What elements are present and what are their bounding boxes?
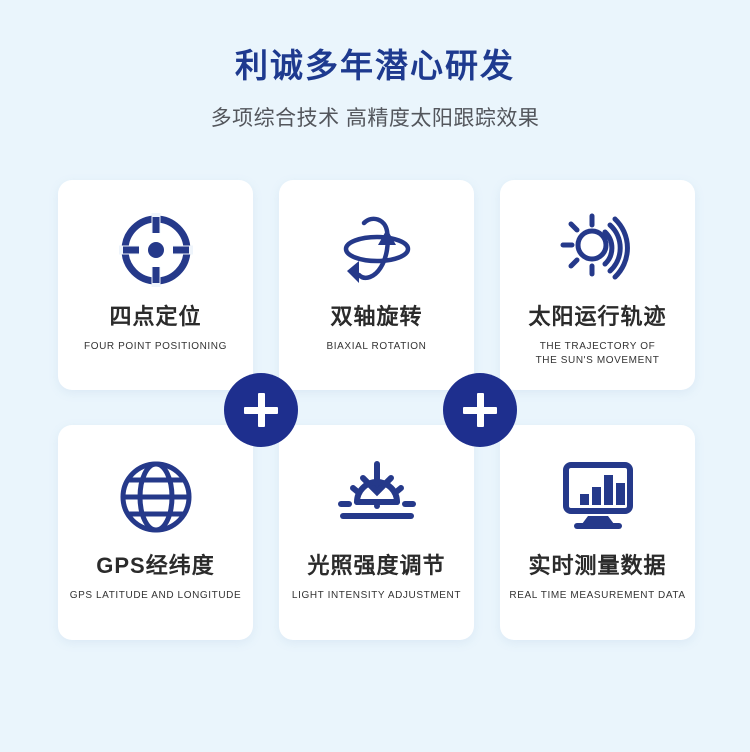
card-subtitle-line-1: THE TRAJECTORY OF xyxy=(540,341,656,352)
sun-trajectory-icon xyxy=(557,202,639,298)
card-title: 太阳运行轨迹 xyxy=(528,304,666,330)
feature-card-four-point-positioning[interactable]: 四点定位 FOUR POINT POSITIONING xyxy=(58,180,253,390)
card-title: 双轴旋转 xyxy=(330,304,422,330)
plus-icon-vertical-bar xyxy=(258,393,265,427)
feature-card-sun-trajectory[interactable]: 太阳运行轨迹 THE TRAJECTORY OF THE SUN'S MOVEM… xyxy=(500,180,695,390)
monitor-bar-chart-icon xyxy=(558,447,638,547)
feature-card-grid: 四点定位 FOUR POINT POSITIONING 双轴旋转 BIAXIAL… xyxy=(58,180,695,640)
globe-icon xyxy=(118,447,194,547)
card-subtitle: GPS LATITUDE AND LONGITUDE xyxy=(70,589,242,603)
sunrise-arrow-icon xyxy=(337,447,417,547)
card-subtitle: BIAXIAL ROTATION xyxy=(327,340,427,354)
card-subtitle: LIGHT INTENSITY ADJUSTMENT xyxy=(292,589,461,603)
feature-grid-page: 利诚多年潜心研发 多项综合技术 高精度太阳跟踪效果 四 xyxy=(0,0,750,752)
page-subtitle: 多项综合技术 高精度太阳跟踪效果 xyxy=(0,102,750,132)
feature-card-light-intensity[interactable]: 光照强度调节 LIGHT INTENSITY ADJUSTMENT xyxy=(279,425,474,640)
page-title: 利诚多年潜心研发 xyxy=(0,48,750,84)
page-header: 利诚多年潜心研发 多项综合技术 高精度太阳跟踪效果 xyxy=(0,0,750,132)
card-subtitle: THE TRAJECTORY OF THE SUN'S MOVEMENT xyxy=(536,340,660,367)
card-title: 四点定位 xyxy=(109,304,201,330)
card-subtitle: REAL TIME MEASUREMENT DATA xyxy=(509,589,685,603)
feature-card-realtime-data[interactable]: 实时测量数据 REAL TIME MEASUREMENT DATA xyxy=(500,425,695,640)
feature-card-biaxial-rotation[interactable]: 双轴旋转 BIAXIAL ROTATION xyxy=(279,180,474,390)
card-title: 实时测量数据 xyxy=(528,553,666,579)
feature-card-gps-coordinates[interactable]: GPS经纬度 GPS LATITUDE AND LONGITUDE xyxy=(58,425,253,640)
card-subtitle: FOUR POINT POSITIONING xyxy=(84,340,227,354)
card-subtitle-line-2: THE SUN'S MOVEMENT xyxy=(536,355,660,366)
card-title: GPS经纬度 xyxy=(96,553,214,579)
plus-badge-left xyxy=(224,373,298,447)
biaxial-rotation-icon xyxy=(337,202,417,298)
card-title: 光照强度调节 xyxy=(307,553,445,579)
plus-badge-right xyxy=(443,373,517,447)
plus-icon-vertical-bar xyxy=(477,393,484,427)
crosshair-target-icon xyxy=(117,202,195,298)
